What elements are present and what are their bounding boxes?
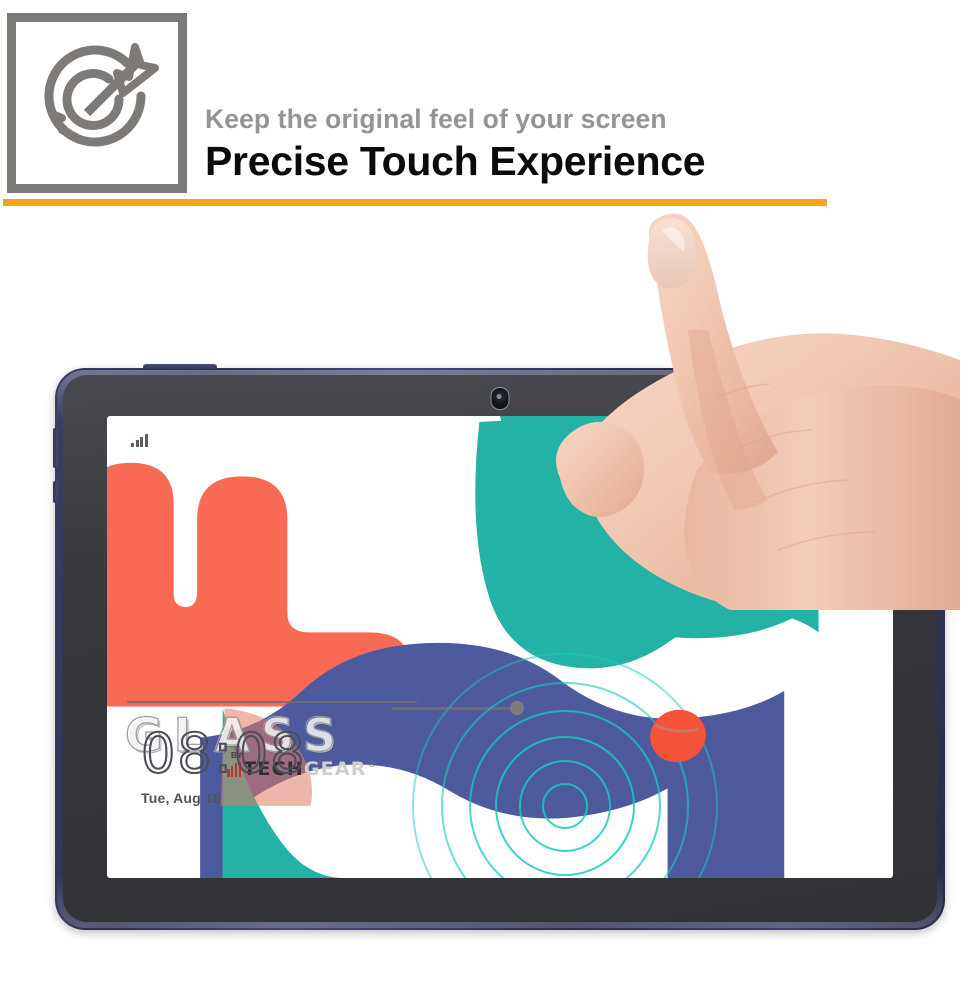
watermark-brand-secondary: GEAR: [304, 758, 367, 780]
watermark-rule: [127, 701, 417, 703]
lockscreen-clock: 08:08 Tue, Aug 18: [141, 727, 307, 806]
shape-orange-ball: [643, 701, 713, 771]
fingernail-highlight: [662, 227, 685, 252]
top-button[interactable]: [143, 364, 217, 370]
target-arrow-icon-frame: [7, 13, 187, 193]
tablet-bezel: GLASS BY TECH GEAR ®: [63, 375, 937, 922]
volume-button[interactable]: [53, 481, 58, 503]
tablet-screen[interactable]: GLASS BY TECH GEAR ®: [107, 416, 893, 878]
clock-date: Tue, Aug 18: [141, 790, 307, 806]
power-button[interactable]: [53, 428, 58, 468]
battery-icon: [843, 435, 867, 447]
accent-divider: [3, 199, 827, 206]
fingernail: [648, 218, 696, 289]
header-headline: Precise Touch Experience: [205, 139, 925, 183]
signal-bars-icon: [131, 433, 148, 447]
watermark-registered-mark: ®: [369, 759, 376, 769]
header-banner: Keep the original feel of your screen Pr…: [0, 0, 971, 215]
header-subheadline: Keep the original feel of your screen: [205, 106, 925, 133]
front-camera-icon: [491, 387, 510, 410]
clock-time: 08:08: [141, 727, 307, 781]
header-text-block: Keep the original feel of your screen Pr…: [205, 106, 925, 183]
target-arrow-icon: [31, 37, 163, 169]
tablet-device: GLASS BY TECH GEAR ®: [55, 368, 945, 930]
